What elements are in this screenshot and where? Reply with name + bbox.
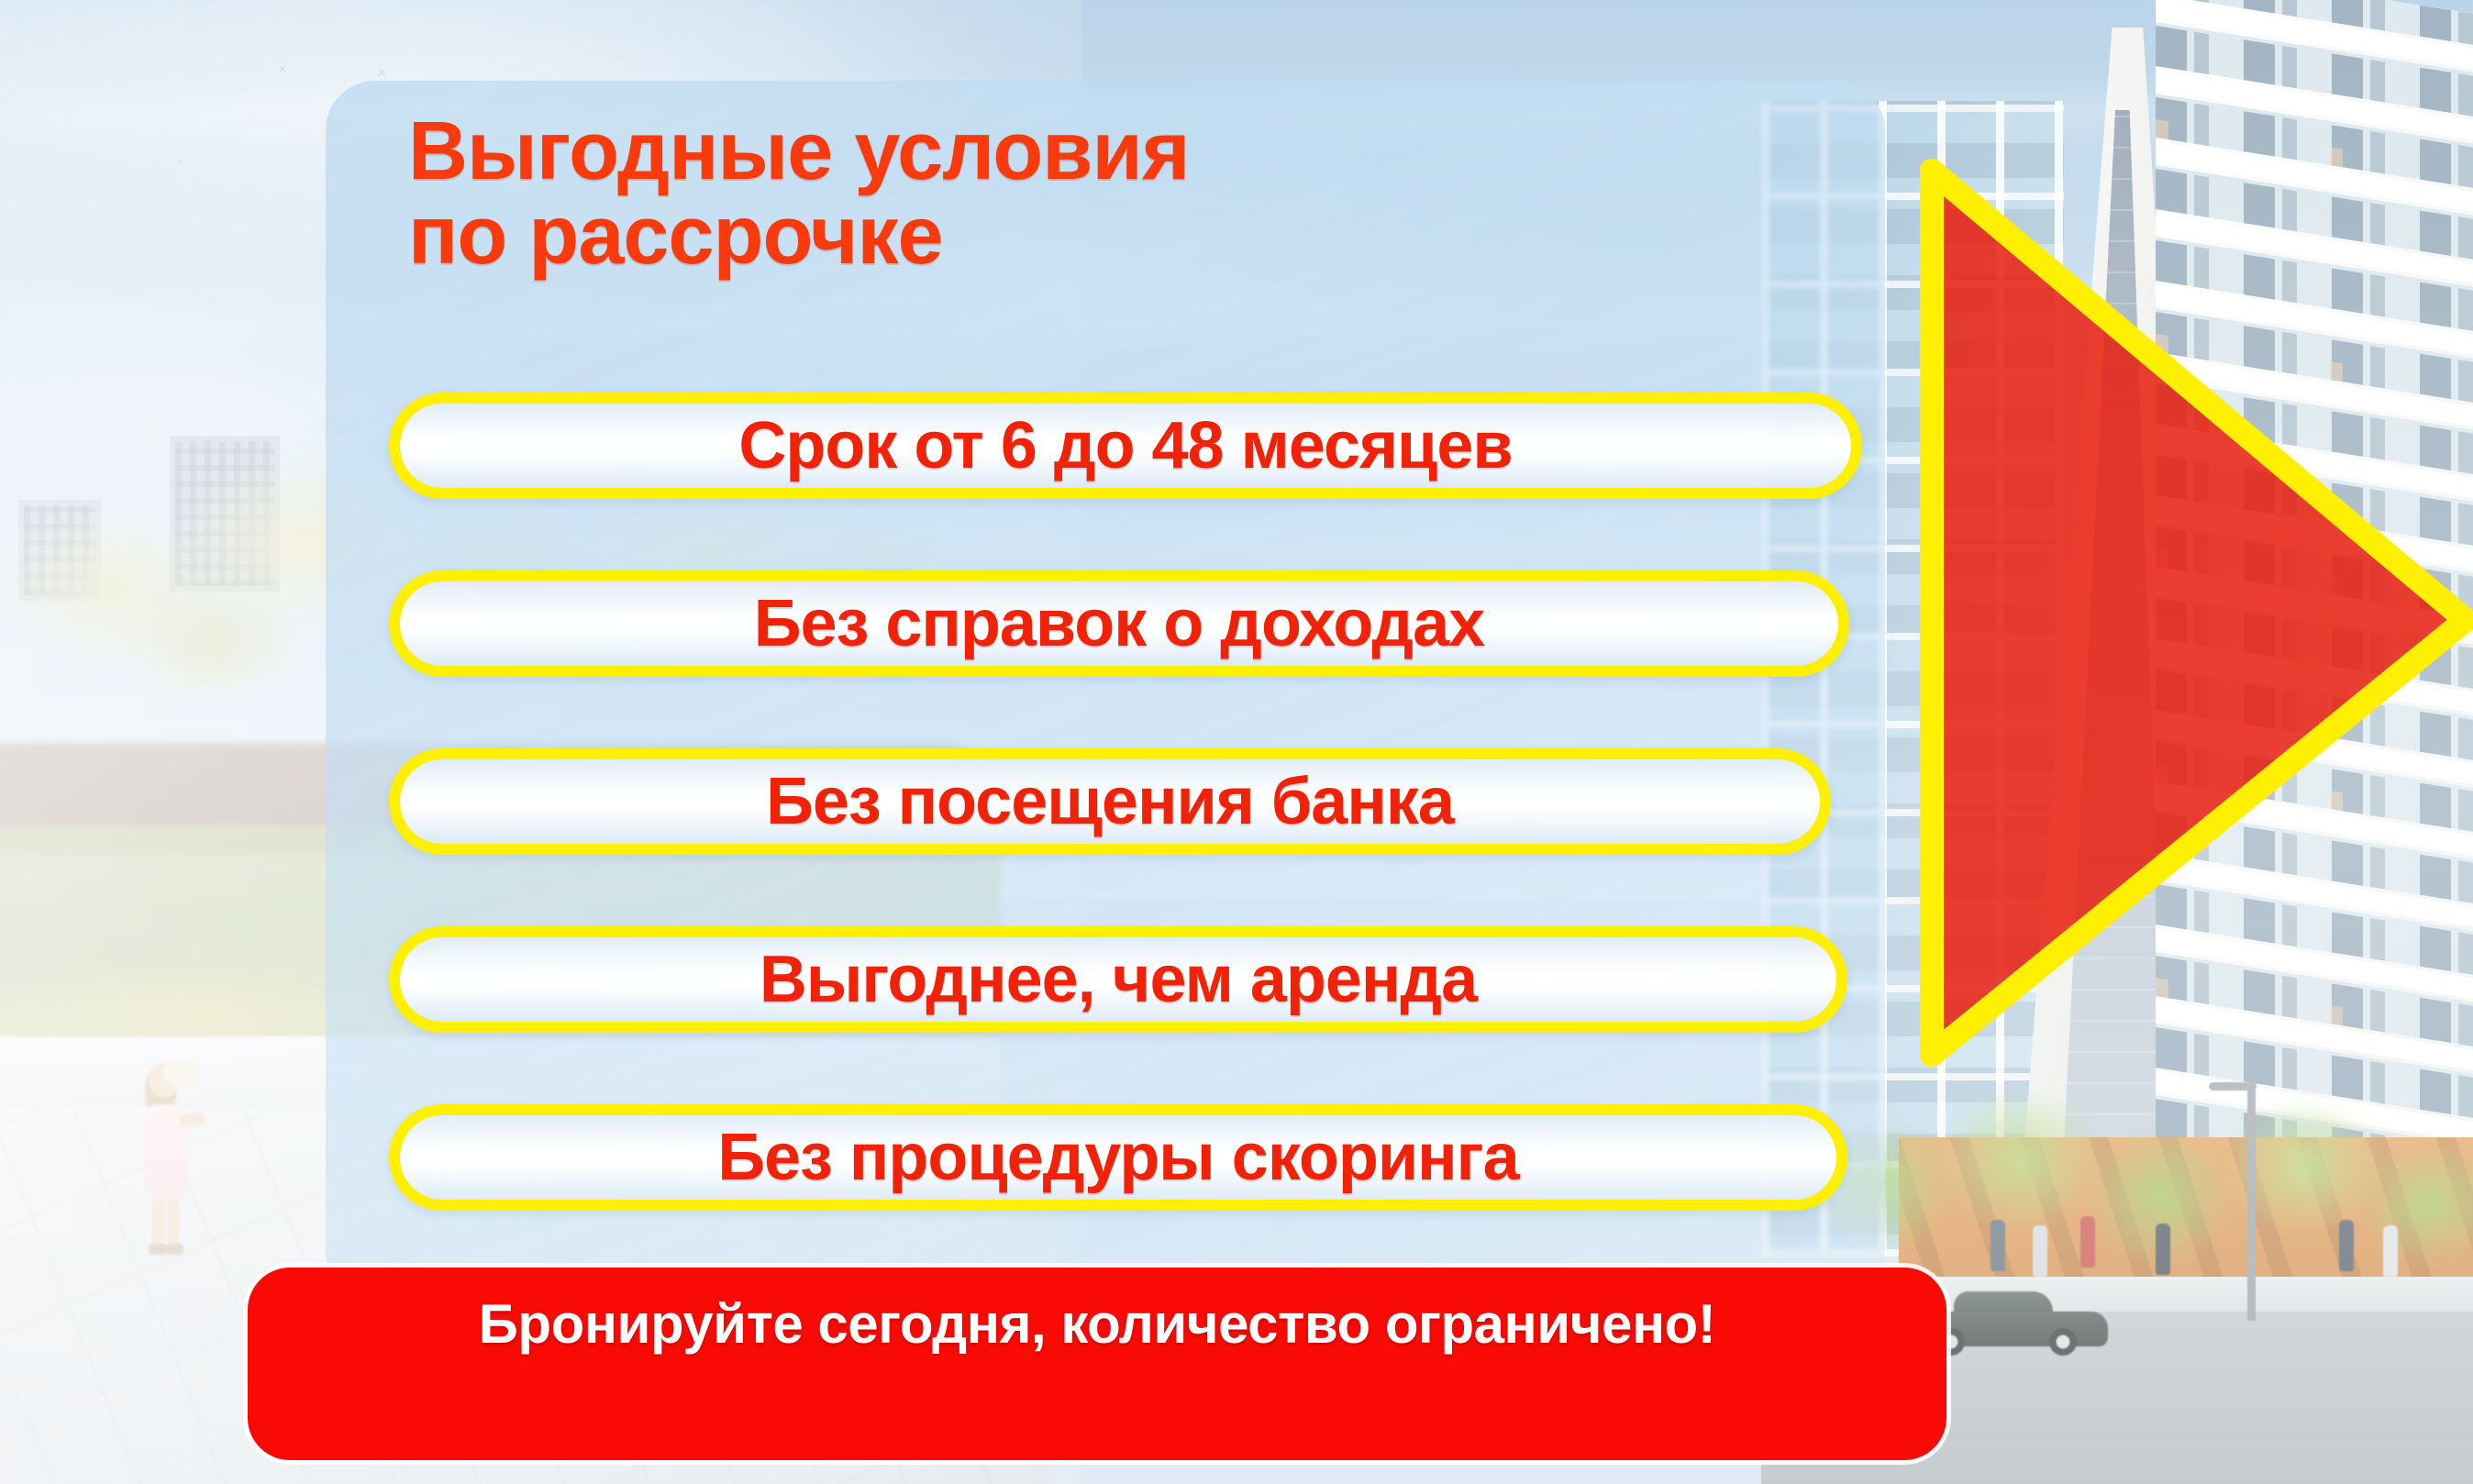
cta-label: Бронируйте сегодня, количество ограничен… xyxy=(479,1297,1715,1352)
feature-label: Без посещения банка xyxy=(766,769,1454,835)
feature-pill-term[interactable]: Срок от 6 до 48 месяцев xyxy=(389,393,1862,499)
feature-label: Без справок о доходах xyxy=(754,591,1484,657)
bird-icon xyxy=(374,70,389,76)
feature-pill-no-scoring[interactable]: Без процедуры скоринга xyxy=(389,1104,1847,1211)
feature-pill-no-income-proof[interactable]: Без справок о доходах xyxy=(389,570,1849,677)
pedestrian xyxy=(2339,1220,2354,1271)
cta-banner[interactable]: Бронируйте сегодня, количество ограничен… xyxy=(248,1268,1946,1460)
feature-pill-no-bank-visit[interactable]: Без посещения банка xyxy=(389,748,1831,855)
play-arrow-right-icon xyxy=(1915,154,2473,1071)
feature-label: Без процедуры скоринга xyxy=(717,1124,1518,1191)
bird-icon xyxy=(174,161,184,165)
pedestrian xyxy=(2033,1225,2047,1277)
pedestrian xyxy=(2383,1225,2398,1277)
pedestrian xyxy=(1991,1220,2005,1271)
bird-icon xyxy=(275,66,290,72)
feature-list: Срок от 6 до 48 месяцев Без справок о до… xyxy=(389,393,1875,1211)
pedestrian xyxy=(2080,1216,2095,1268)
lamp-post xyxy=(2247,1082,2256,1321)
page-title: Выгодные условия по рассрочке xyxy=(408,110,1839,279)
pedestrian xyxy=(2156,1224,2170,1275)
feature-pill-cheaper-than-rent[interactable]: Выгоднее, чем аренда xyxy=(389,926,1847,1033)
feature-label: Срок от 6 до 48 месяцев xyxy=(738,413,1512,479)
child-figure xyxy=(139,1053,204,1264)
promo-banner: Выгодные условия по рассрочке Срок от 6 … xyxy=(0,0,2473,1484)
feature-label: Выгоднее, чем аренда xyxy=(760,947,1477,1013)
